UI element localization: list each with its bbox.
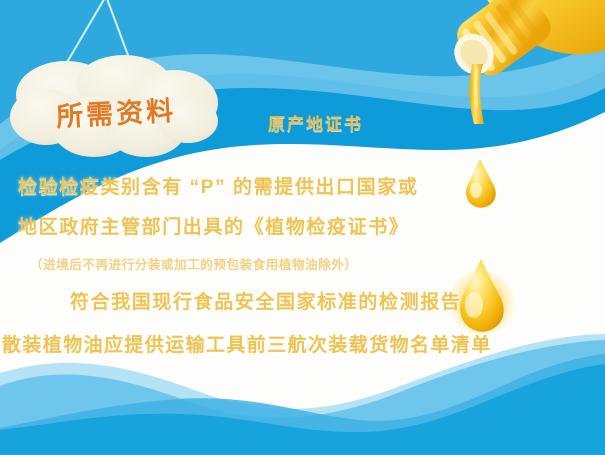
badge-title: 所需资料 xyxy=(3,49,229,172)
sub-title: 原产地证书 xyxy=(268,110,363,135)
body-line-1: 检验检疫类别含有 “P” 的需提供出口国家或 xyxy=(18,172,418,199)
body-line-2: 地区政府主管部门出具的《植物检疫证书》 xyxy=(18,212,409,239)
body-line-4: 符合我国现行食品安全国家标准的检测报告 xyxy=(70,287,461,314)
body-line-3-note: （进境后不再进行分装或加工的预包装食用植物油除外） xyxy=(30,254,358,273)
oil-droplet-small-icon xyxy=(458,158,502,210)
oil-bottle-pouring-icon xyxy=(420,0,605,124)
infographic-poster: 所需资料 xyxy=(0,0,605,455)
body-line-5: 散装植物油应提供运输工具前三航次装载货物名单清单 xyxy=(2,330,492,357)
